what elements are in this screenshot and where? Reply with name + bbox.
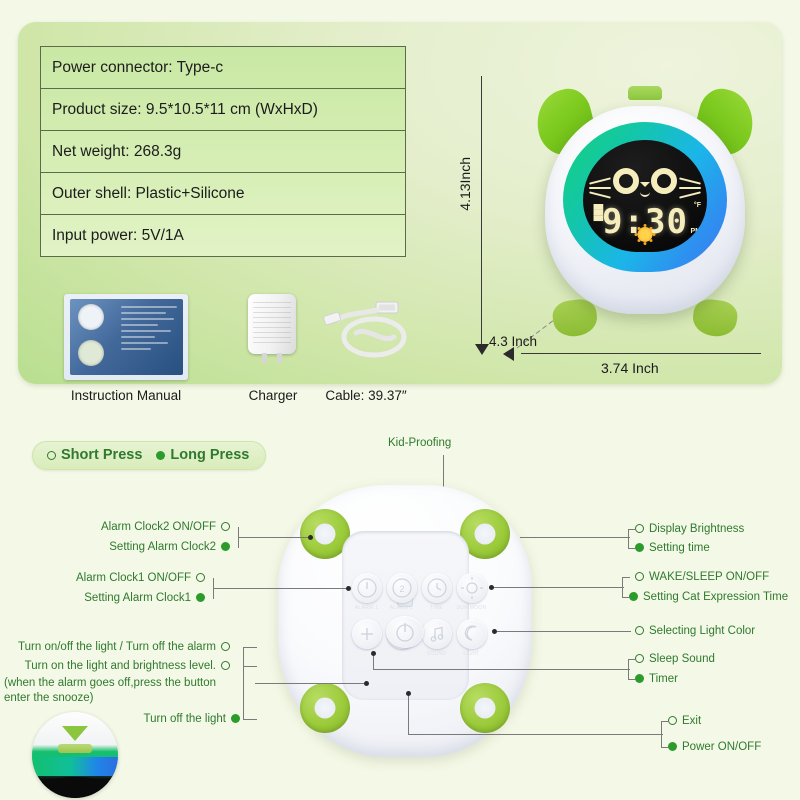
callout-leader-line xyxy=(628,548,636,549)
legend-long-press-label: Long Press xyxy=(170,447,249,463)
button-pad: 2 ALARM 1 ALARM 2 TIME SUN/MOON xyxy=(342,531,469,700)
cat-mouth-icon xyxy=(640,189,650,197)
clock-body: ███ 9:30 °F PM xyxy=(545,106,745,314)
usb-cable-icon xyxy=(318,300,414,360)
whisker-icon xyxy=(589,177,611,184)
svg-text:2: 2 xyxy=(399,584,404,594)
height-dimension-line xyxy=(481,76,482,346)
accessory-label-cable: Cable: 39.37″ xyxy=(318,388,414,403)
callout-leader-line xyxy=(628,529,636,530)
legend-short-press-label: Short Press xyxy=(61,447,142,463)
width-dimension-line xyxy=(521,353,761,354)
height-dimension-label: 4.13Inch xyxy=(457,157,473,211)
cat-eye-right-icon xyxy=(651,168,677,194)
back-body: 2 ALARM 1 ALARM 2 TIME SUN/MOON xyxy=(278,485,532,757)
callout-leader-line xyxy=(520,537,630,538)
whisker-icon xyxy=(589,187,611,189)
callout-anchor-dot xyxy=(371,651,376,656)
spec-row: Net weight: 268.3g xyxy=(41,131,405,173)
inset-shadow xyxy=(32,777,118,798)
callout-leader-line xyxy=(622,597,630,598)
alarm2-button[interactable]: 2 xyxy=(387,573,417,603)
rubber-foot xyxy=(460,683,510,733)
short-press-dot-icon xyxy=(635,572,644,581)
callout-setting-cat-expression: Setting Cat Expression Time xyxy=(629,591,788,603)
callout-leader-line xyxy=(492,587,624,588)
short-press-dot-icon xyxy=(47,451,56,460)
long-press-dot-icon xyxy=(668,742,677,751)
press-type-legend: Short PressLong Press xyxy=(32,441,266,470)
callout-setting-alarm1: Setting Alarm Clock1 xyxy=(55,592,205,604)
spec-row: Product size: 9.5*10.5*11 cm (WxHxD) xyxy=(41,89,405,131)
callout-wake-sleep: WAKE/SLEEP ON/OFF xyxy=(635,571,769,583)
callout-setting-alarm2: Setting Alarm Clock2 xyxy=(80,541,230,553)
callout-leader-line xyxy=(497,631,631,632)
spec-row: Power connector: Type-c xyxy=(41,47,405,89)
callout-snooze-note-line1: (when the alarm goes off,press the butto… xyxy=(4,676,240,691)
light-button-label: LIGHT xyxy=(450,651,494,657)
inset-button xyxy=(58,744,92,753)
callout-anchor-dot xyxy=(308,535,313,540)
callout-leader-line xyxy=(408,695,409,734)
sound-button[interactable] xyxy=(422,619,452,649)
callout-power-onoff: Power ON/OFF xyxy=(668,741,761,753)
long-press-dot-icon xyxy=(629,592,638,601)
callout-anchor-dot xyxy=(364,681,369,686)
short-press-dot-icon xyxy=(635,654,644,663)
short-press-dot-icon xyxy=(635,626,644,635)
cat-eye-left-icon xyxy=(613,168,639,194)
spec-row: Input power: 5V/1A xyxy=(41,215,405,256)
led-screen: ███ 9:30 °F PM xyxy=(583,140,707,252)
spec-row: Outer shell: Plastic+Silicone xyxy=(41,173,405,215)
callout-turn-off-light: Turn off the light xyxy=(100,713,240,725)
callout-exit: Exit xyxy=(668,715,701,727)
manual-booklet-icon xyxy=(64,294,188,380)
power-button[interactable] xyxy=(386,616,424,648)
top-knob xyxy=(628,86,662,100)
callout-leader-line xyxy=(373,669,630,670)
width-dimension-label: 3.74 Inch xyxy=(601,360,659,376)
accessory-label-manual: Instruction Manual xyxy=(64,388,188,403)
callout-leader-line xyxy=(628,529,629,549)
plus-button[interactable] xyxy=(352,619,382,649)
callout-kid-proofing-label: Kid-Proofing xyxy=(388,437,451,449)
callout-leader-line xyxy=(373,655,374,670)
callout-leader-line xyxy=(243,719,257,720)
callout-anchor-dot xyxy=(406,691,411,696)
sun-icon xyxy=(638,227,653,242)
short-press-dot-icon xyxy=(635,524,644,533)
callout-anchor-dot xyxy=(489,585,494,590)
callout-leader-line xyxy=(255,683,367,684)
callout-alarm2-onoff: Alarm Clock2 ON/OFF xyxy=(80,521,230,533)
whisker-icon xyxy=(679,191,701,198)
callout-leader-line xyxy=(628,679,636,680)
height-arrow-icon xyxy=(475,344,489,355)
accessory-label-charger: Charger xyxy=(228,388,318,403)
short-press-dot-icon xyxy=(221,661,230,670)
callout-alarm1-onoff: Alarm Clock1 ON/OFF xyxy=(55,572,205,584)
callout-display-brightness: Display Brightness xyxy=(635,523,744,535)
long-press-dot-icon xyxy=(221,542,230,551)
short-press-dot-icon xyxy=(668,716,677,725)
time-button[interactable] xyxy=(422,573,452,603)
depth-dimension-label: 4.3 Inch xyxy=(489,334,537,349)
callout-anchor-dot xyxy=(346,586,351,591)
spec-table: Power connector: Type-c Product size: 9.… xyxy=(40,46,406,257)
long-press-dot-icon xyxy=(156,451,165,460)
alarm-clock-product-image: ███ 9:30 °F PM xyxy=(531,84,759,334)
light-strip xyxy=(32,757,118,776)
long-press-dot-icon xyxy=(635,674,644,683)
device-back-panel: 2 ALARM 1 ALARM 2 TIME SUN/MOON xyxy=(278,485,532,757)
callout-setting-time: Setting time xyxy=(635,542,710,554)
short-press-dot-icon xyxy=(196,573,205,582)
callout-light-alarm-toggle: Turn on/off the light / Turn off the ala… xyxy=(4,641,230,653)
foot-right xyxy=(691,297,740,339)
callout-anchor-dot xyxy=(492,629,497,634)
sun-moon-button[interactable] xyxy=(457,573,487,603)
temperature-unit-label: °F xyxy=(694,202,701,209)
whisker-icon xyxy=(679,187,701,189)
rgb-light-ring: ███ 9:30 °F PM xyxy=(563,122,727,272)
callout-timer: Timer xyxy=(635,673,678,685)
rubber-foot xyxy=(300,683,350,733)
callout-leader-line xyxy=(243,647,257,648)
callout-leader-line xyxy=(213,588,349,589)
callout-leader-line xyxy=(622,577,630,578)
callout-sleep-sound: Sleep Sound xyxy=(635,653,715,665)
callout-leader-line xyxy=(661,721,669,722)
meridiem-label: PM xyxy=(691,228,702,235)
specifications-panel: Power connector: Type-c Product size: 9.… xyxy=(18,22,782,384)
callout-leader-line xyxy=(243,647,244,719)
light-color-inset-image xyxy=(32,712,118,798)
light-button[interactable] xyxy=(457,619,487,649)
down-arrow-icon xyxy=(62,726,88,741)
cat-nose-icon xyxy=(640,182,650,187)
sun-moon-button-label: SUN/MOON xyxy=(450,605,494,611)
callout-leader-line xyxy=(628,659,636,660)
callout-snooze-note-line2: enter the snooze) xyxy=(4,691,240,706)
long-press-dot-icon xyxy=(231,714,240,723)
callout-leader-line xyxy=(243,666,257,667)
long-press-dot-icon xyxy=(635,543,644,552)
callout-leader-line xyxy=(661,747,669,748)
whisker-icon xyxy=(679,177,701,184)
short-press-dot-icon xyxy=(221,522,230,531)
callout-light-brightness: Turn on the light and brightness level. xyxy=(4,660,230,672)
product-dimension-figure: 4.13Inch 3.74 Inch 4.3 Inch xyxy=(473,62,773,382)
whisker-icon xyxy=(589,191,611,198)
short-press-dot-icon xyxy=(221,642,230,651)
callout-selecting-light-color: Selecting Light Color xyxy=(635,625,755,637)
wall-charger-icon xyxy=(248,294,296,354)
callout-leader-line xyxy=(408,734,663,735)
alarm1-button[interactable] xyxy=(352,573,382,603)
callout-leader-line xyxy=(238,537,310,538)
long-press-dot-icon xyxy=(196,593,205,602)
